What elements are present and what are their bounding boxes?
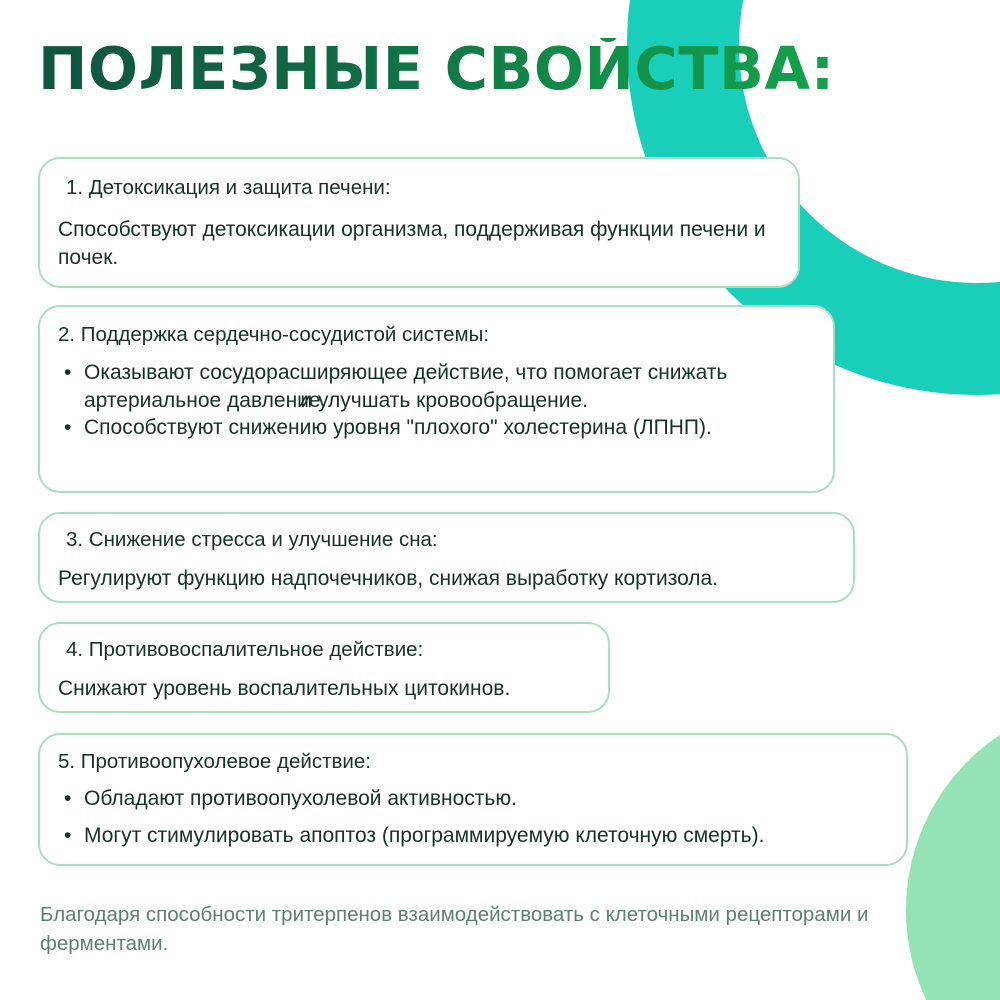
benefit-card-2-bullet-list: • Оказывают сосудорасширяющее действие, … [58, 359, 833, 443]
benefit-card-5-inner: 5. Противоопухолевое действие: • Обладаю… [40, 735, 906, 849]
bullet-dot-icon: • [64, 414, 71, 442]
light-green-circle-decoration [906, 700, 1000, 1000]
bullet-dot-icon: • [64, 359, 71, 387]
benefit-card-3-paragraph: Регулируют функцию надпочечников, снижая… [58, 565, 853, 593]
benefit-card-1-paragraph: Способствуют детоксикации организма, под… [58, 216, 798, 272]
benefit-card-3-inner: 3. Снижение стресса и улучшение сна: Рег… [40, 514, 853, 593]
footer-note: Благодаря способности тритерпенов взаимо… [40, 900, 920, 958]
bullet-dot-icon: • [64, 785, 71, 813]
benefit-card-1-title: 1. Детоксикация и защита печени: [66, 175, 798, 202]
benefit-card-2-title: 2. Поддержка сердечно-сосудистой системы… [58, 322, 833, 349]
list-item: • Обладают противоопухолевой активностью… [58, 785, 906, 813]
benefit-card-5-title: 5. Противоопухолевое действие: [58, 749, 906, 776]
benefit-card-2-inner: 2. Поддержка сердечно-сосудистой системы… [40, 307, 833, 442]
benefit-card-1: 1. Детоксикация и защита печени: Способс… [38, 157, 800, 288]
benefit-card-3-title: 3. Снижение стресса и улучшение сна: [66, 527, 853, 554]
benefit-card-5-bullet-list: • Обладают противоопухолевой активностью… [58, 785, 906, 850]
list-item: • Оказывают сосудорасширяющее действие, … [58, 359, 833, 415]
list-item-text: Обладают противоопухолевой активностью. [84, 787, 517, 810]
benefit-card-2-outdented-line: и улучшать кровообращение. [300, 389, 588, 412]
benefit-card-5: 5. Противоопухолевое действие: • Обладаю… [38, 733, 908, 866]
benefit-card-4-paragraph: Снижают уровень воспалительных цитокинов… [58, 675, 608, 703]
bullet-dot-icon: • [64, 822, 71, 850]
list-item: • Могут стимулировать апоптоз (программи… [58, 822, 906, 850]
benefit-card-4-inner: 4. Противовоспалительное действие: Снижа… [40, 624, 608, 703]
list-item-text: Способствуют снижению уровня "плохого" х… [84, 416, 712, 439]
list-item: • Способствуют снижению уровня "плохого"… [58, 414, 833, 442]
list-item-text: Могут стимулировать апоптоз (программиру… [84, 824, 764, 847]
benefit-card-4: 4. Противовоспалительное действие: Снижа… [38, 622, 610, 713]
page-title: ПОЛЕЗНЫЕ СВОЙСТВА: [38, 38, 835, 100]
infographic-page: ПОЛЕЗНЫЕ СВОЙСТВА: 1. Детоксикация и защ… [0, 0, 1000, 1000]
benefit-card-1-inner: 1. Детоксикация и защита печени: Способс… [40, 159, 798, 271]
benefit-card-3: 3. Снижение стресса и улучшение сна: Рег… [38, 512, 855, 603]
benefit-card-4-title: 4. Противовоспалительное действие: [66, 637, 608, 664]
benefit-card-2: 2. Поддержка сердечно-сосудистой системы… [38, 305, 835, 493]
